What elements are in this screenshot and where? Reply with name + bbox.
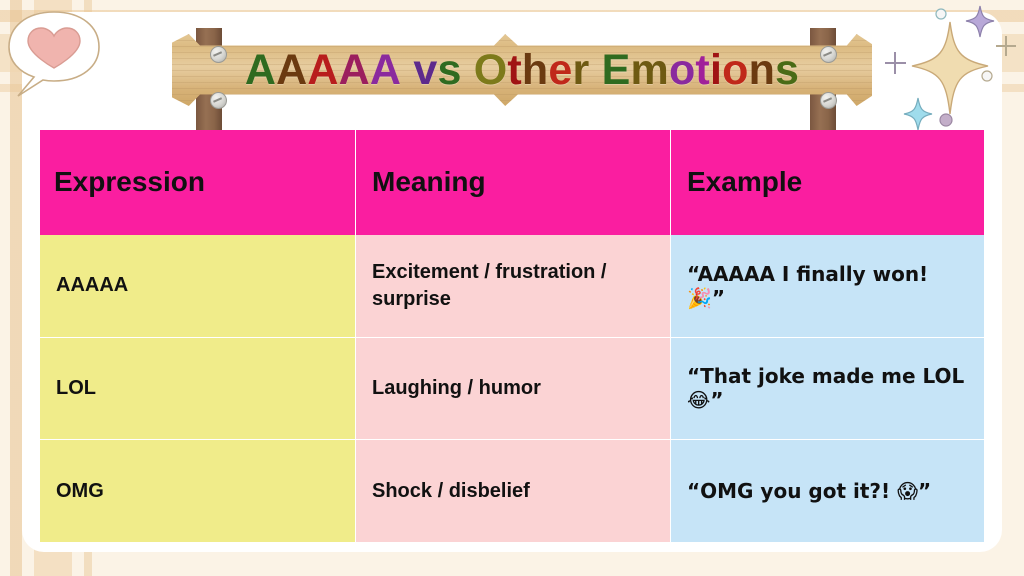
cell-expression: AAAAA <box>40 235 355 337</box>
slide-canvas: AAAAA vs Other Emotions Expression Meani… <box>0 0 1024 576</box>
title-letter: E <box>602 46 631 95</box>
table-header-row: Expression Meaning Example <box>40 130 984 235</box>
title-letter: s <box>437 46 461 95</box>
title-letter: v <box>413 46 437 95</box>
title-letter <box>462 46 474 95</box>
table-row: OMG Shock / disbelief “OMG you got it?! … <box>40 439 984 542</box>
title-letter: A <box>307 46 338 95</box>
title-letter: t <box>695 46 710 95</box>
cell-example: “That joke made me LOL 😂” <box>670 338 984 440</box>
column-header-example: Example <box>670 130 984 235</box>
cell-meaning: Excitement / frustration / surprise <box>355 235 670 337</box>
title-letter: o <box>669 46 695 95</box>
title-letter: A <box>245 46 276 95</box>
title-letter: r <box>573 46 590 95</box>
cell-example: “OMG you got it?! 😱” <box>670 440 984 542</box>
page-title: AAAAA vs Other Emotions <box>172 40 872 100</box>
title-letter: A <box>370 46 401 95</box>
cell-meaning: Laughing / humor <box>355 338 670 440</box>
title-letter: i <box>710 46 722 95</box>
title-letter: n <box>749 46 775 95</box>
comparison-table: Expression Meaning Example AAAAA Excitem… <box>40 130 984 542</box>
title-letter: A <box>339 46 370 95</box>
title-letter: m <box>631 46 669 95</box>
cell-example: “AAAAA I finally won! 🎉” <box>670 235 984 337</box>
heart-speech-bubble-icon <box>2 6 106 102</box>
title-letter: s <box>775 46 799 95</box>
column-header-expression: Expression <box>40 130 355 235</box>
title-letter: O <box>474 46 508 95</box>
cell-expression: LOL <box>40 338 355 440</box>
table-row: AAAAA Excitement / frustration / surpris… <box>40 235 984 337</box>
title-letter: A <box>276 46 307 95</box>
table-row: LOL Laughing / humor “That joke made me … <box>40 337 984 440</box>
cell-meaning: Shock / disbelief <box>355 440 670 542</box>
cell-expression: OMG <box>40 440 355 542</box>
wooden-sign-banner: AAAAA vs Other Emotions <box>172 14 872 132</box>
title-letter: t <box>507 46 522 95</box>
title-letter: h <box>522 46 548 95</box>
sparkle-stars-icon <box>884 0 1024 130</box>
title-letter <box>589 46 601 95</box>
title-letter: e <box>548 46 572 95</box>
column-header-meaning: Meaning <box>355 130 670 235</box>
title-letter: o <box>722 46 748 95</box>
title-letter <box>401 46 413 95</box>
